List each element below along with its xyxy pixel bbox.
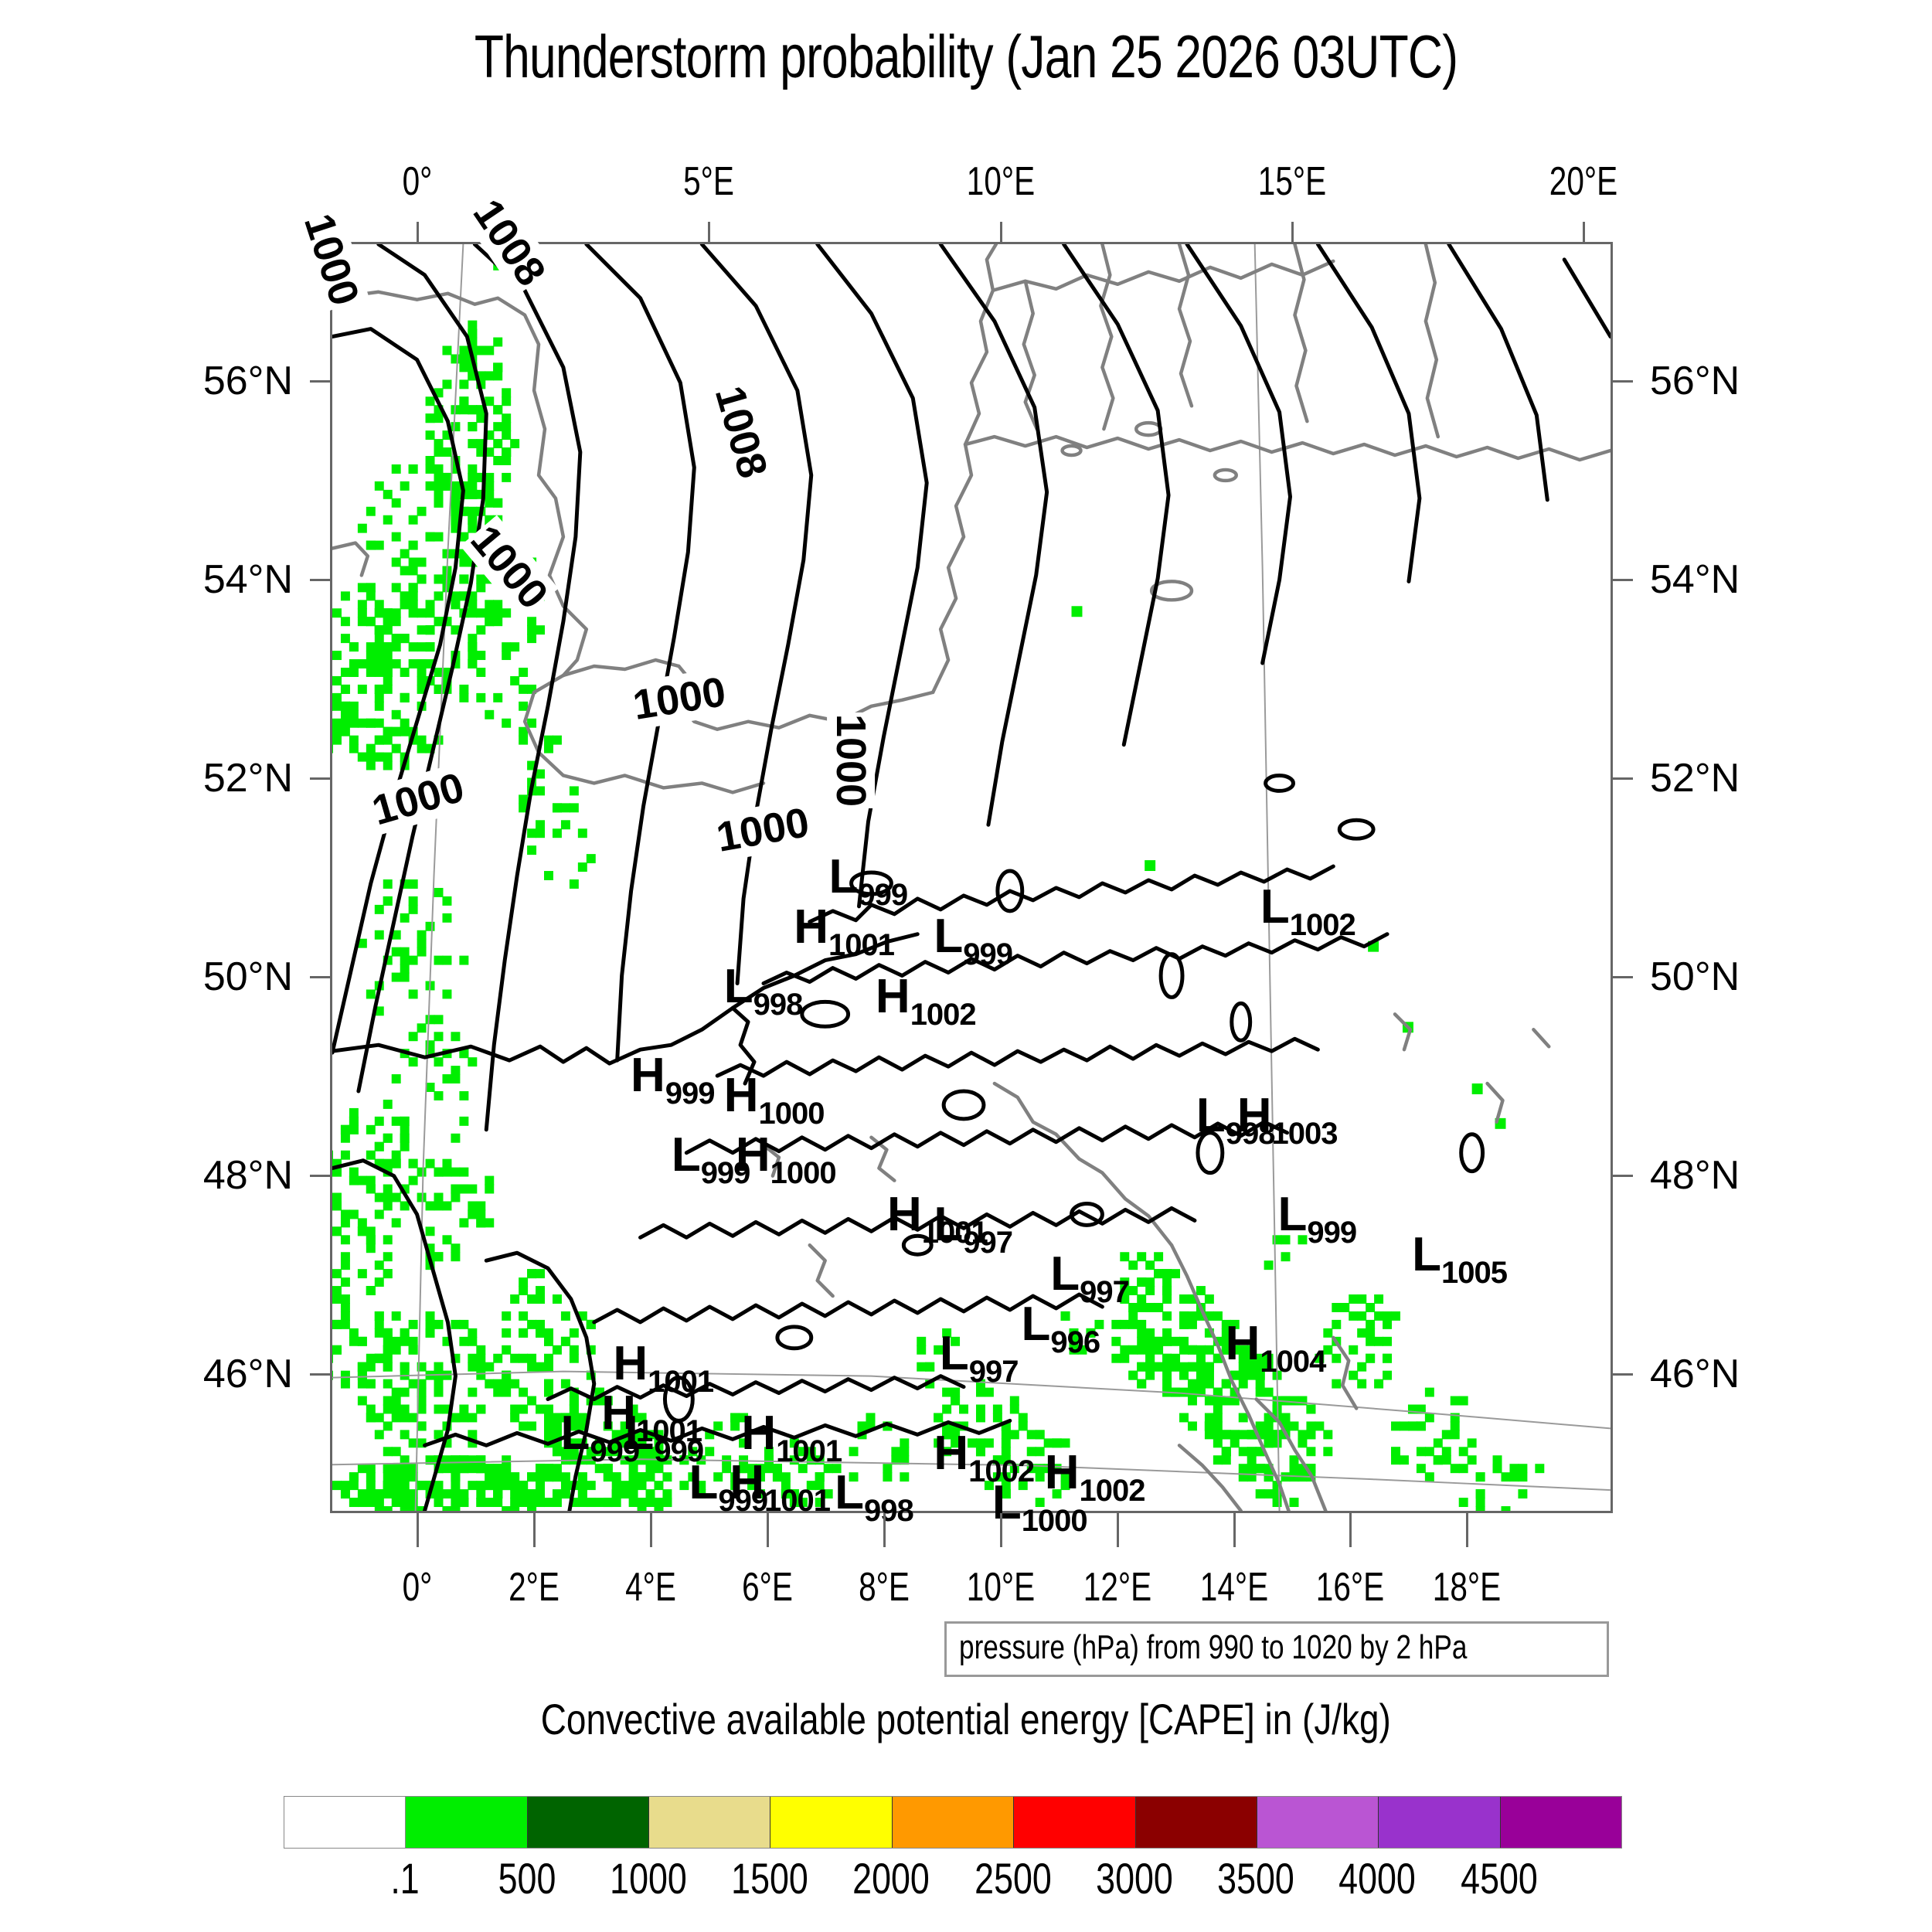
pressure-center-value: 1004 (1260, 1345, 1325, 1379)
pressure-center-l-998: L998 (724, 963, 803, 1011)
pressure-center-l-999: L999 (829, 853, 908, 901)
pressure-center-l-999: L999 (1278, 1191, 1357, 1239)
pressure-center-h-1002: H1002 (934, 1430, 1034, 1478)
tick-right-4 (1613, 1175, 1633, 1177)
axis-label-bottom-5: 10°E (967, 1564, 1035, 1611)
pressure-center-h-1000: H1000 (736, 1131, 836, 1179)
pressure-center-value: 997 (969, 1355, 1019, 1389)
pressure-center-letter: L (1050, 1247, 1080, 1301)
pressure-center-letter: L (940, 1327, 969, 1380)
pressure-center-value: 1003 (1272, 1117, 1338, 1151)
pressure-center-l-998: L998 (835, 1469, 913, 1517)
tick-bottom-7 (1233, 1513, 1236, 1547)
pressure-center-letter: L (835, 1466, 864, 1519)
axis-label-bottom-7: 14°E (1199, 1564, 1267, 1611)
pressure-center-value: 996 (1050, 1325, 1100, 1359)
axis-label-right-1: 54°N (1650, 556, 1740, 603)
tick-top-1 (708, 222, 710, 242)
page-title: Thunderstorm probability (Jan 25 2026 03… (193, 22, 1739, 92)
pressure-center-l-1002: L1002 (1260, 883, 1355, 931)
tick-bottom-9 (1466, 1513, 1468, 1547)
axis-label-top-3: 15°E (1258, 158, 1326, 205)
tick-top-4 (1583, 222, 1585, 242)
tick-top-3 (1291, 222, 1294, 242)
axis-label-left-0: 56°N (203, 358, 293, 404)
map-canvas (332, 244, 1611, 1511)
pressure-center-value: 999 (963, 937, 1012, 971)
pressure-center-letter: L (672, 1128, 701, 1182)
pressure-center-letter: H (934, 1427, 968, 1480)
pressure-center-l-1000: L1000 (992, 1479, 1087, 1527)
pressure-center-h-1001: H1001 (730, 1459, 830, 1507)
axis-label-bottom-6: 12°E (1083, 1564, 1151, 1611)
axis-label-left-5: 46°N (203, 1351, 293, 1397)
tick-bottom-4 (883, 1513, 886, 1547)
colorbar-tick-2: 1000 (610, 1853, 687, 1903)
tick-left-0 (310, 380, 330, 383)
axis-label-bottom-8: 16°E (1316, 1564, 1384, 1611)
axis-label-top-4: 20°E (1549, 158, 1617, 205)
pressure-center-value: 1002 (910, 998, 976, 1032)
pressure-center-l-997: L997 (1050, 1250, 1129, 1298)
colorbar-tick-3: 1500 (731, 1853, 808, 1903)
pressure-center-letter: L (1196, 1089, 1226, 1142)
cape-caption-text: Convective available potential energy [C… (541, 1694, 1391, 1744)
pressure-center-letter: L (1260, 880, 1290, 934)
tick-right-3 (1613, 976, 1633, 978)
pressure-center-letter: L (1412, 1228, 1441, 1281)
cape-colorbar[interactable] (284, 1796, 1622, 1849)
axis-label-bottom-2: 4°E (625, 1564, 676, 1611)
pressure-center-l-996: L996 (1022, 1301, 1100, 1349)
tick-left-3 (310, 976, 330, 978)
colorbar-segment-10[interactable] (1501, 1797, 1621, 1848)
colorbar-segment-9[interactable] (1379, 1797, 1500, 1848)
colorbar-segment-6[interactable] (1014, 1797, 1135, 1848)
tick-bottom-5 (1000, 1513, 1002, 1547)
tick-right-0 (1613, 380, 1633, 383)
pressure-center-h-1001: H1001 (887, 1191, 988, 1239)
axis-label-top-1: 5°E (684, 158, 735, 205)
axis-label-left-1: 54°N (203, 556, 293, 603)
map-container[interactable]: 1000 1008 1008 1000 1000 1000 1000 1000 … (330, 242, 1613, 1513)
pressure-center-h-1003: H1003 (1237, 1092, 1338, 1140)
tick-left-4 (310, 1175, 330, 1177)
pressure-center-value: 999 (665, 1077, 715, 1111)
tick-right-2 (1613, 777, 1633, 780)
pressure-center-letter: L (689, 1456, 718, 1509)
axis-label-right-3: 50°N (1650, 954, 1740, 1000)
tick-top-2 (1000, 222, 1002, 242)
tick-right-5 (1613, 1373, 1633, 1376)
tick-right-1 (1613, 579, 1633, 581)
colorbar-tick-4: 2000 (853, 1853, 930, 1903)
pressure-center-h-999: H999 (631, 1052, 715, 1100)
axis-label-right-0: 56°N (1650, 358, 1740, 404)
pressure-center-h-1001: H1001 (741, 1410, 842, 1458)
pressure-center-letter: H (887, 1188, 922, 1241)
pressure-center-value: 998 (753, 988, 803, 1022)
cape-caption: Convective available potential energy [C… (0, 1694, 1932, 1744)
pressure-center-letter: H (876, 970, 910, 1023)
pressure-center-letter: L (829, 850, 859, 903)
cape-colorbar-labels: .150010001500200025003000350040004500 (284, 1853, 1621, 1907)
colorbar-tick-0: .1 (391, 1853, 420, 1903)
tick-bottom-6 (1117, 1513, 1119, 1547)
pressure-center-l-999: L999 (624, 1410, 703, 1458)
axis-label-bottom-1: 2°E (509, 1564, 560, 1611)
isobar-label-1000-se: 1000 (827, 713, 875, 808)
pressure-center-value: 998 (864, 1494, 913, 1528)
axis-label-bottom-3: 6°E (742, 1564, 793, 1611)
tick-left-2 (310, 777, 330, 780)
pressure-center-value: 1000 (770, 1156, 836, 1190)
pressure-center-letter: L (1022, 1298, 1051, 1351)
colorbar-segment-7[interactable] (1136, 1797, 1257, 1848)
pressure-center-letter: L (560, 1406, 590, 1460)
pressure-center-value: 1001 (922, 1216, 988, 1250)
map-frame (330, 242, 1613, 1513)
colorbar-segment-5[interactable] (893, 1797, 1014, 1848)
pressure-center-h-1001: H1001 (794, 903, 894, 951)
pressure-center-value: 1002 (1290, 908, 1355, 942)
pressure-center-letter: H (1237, 1089, 1272, 1142)
axis-label-left-3: 50°N (203, 954, 293, 1000)
colorbar-segment-2[interactable] (528, 1797, 649, 1848)
axis-label-bottom-0: 0° (403, 1564, 433, 1611)
pressure-center-h-1000: H1000 (724, 1072, 825, 1120)
colorbar-tick-8: 4000 (1339, 1853, 1417, 1903)
colorbar-segment-0[interactable] (284, 1797, 406, 1848)
colorbar-tick-9: 4500 (1461, 1853, 1538, 1903)
tick-bottom-1 (533, 1513, 536, 1547)
pressure-center-letter: H (794, 900, 828, 954)
tick-bottom-2 (650, 1513, 652, 1547)
axis-label-left-4: 48°N (203, 1152, 293, 1199)
pressure-center-l-997: L997 (940, 1330, 1019, 1378)
axis-label-right-4: 48°N (1650, 1152, 1740, 1199)
pressure-center-letter: H (741, 1406, 776, 1460)
pressure-center-value: 1000 (759, 1097, 825, 1131)
tick-bottom-0 (417, 1513, 419, 1547)
colorbar-segment-4[interactable] (770, 1797, 892, 1848)
pressure-center-letter: H (724, 1069, 759, 1122)
colorbar-segment-1[interactable] (406, 1797, 527, 1848)
pressure-center-h-1001: H1001 (613, 1340, 713, 1388)
tick-bottom-8 (1349, 1513, 1352, 1547)
pressure-legend: pressure (hPa) from 990 to 1020 by 2 hPa (944, 1621, 1609, 1677)
pressure-center-value: 999 (1307, 1216, 1356, 1250)
pressure-center-value: 1005 (1441, 1256, 1507, 1290)
pressure-center-value: 1002 (1080, 1474, 1145, 1508)
pressure-center-letter: L (724, 960, 753, 1013)
tick-bottom-3 (767, 1513, 769, 1547)
pressure-center-letter: H (730, 1456, 764, 1509)
tick-top-0 (417, 222, 419, 242)
colorbar-tick-7: 3500 (1217, 1853, 1294, 1903)
pressure-legend-text: pressure (hPa) from 990 to 1020 by 2 hPa (959, 1628, 1467, 1667)
axis-label-right-5: 46°N (1650, 1351, 1740, 1397)
colorbar-tick-5: 2500 (975, 1853, 1052, 1903)
coastline-layer (332, 244, 1611, 1511)
pressure-center-h-1002: H1002 (876, 973, 976, 1021)
axis-label-top-0: 0° (403, 158, 433, 205)
pressure-center-value: 1001 (828, 928, 894, 962)
pressure-center-letter: L (624, 1406, 654, 1460)
axis-label-bottom-9: 18°E (1433, 1564, 1501, 1611)
pressure-center-letter: L (1278, 1188, 1308, 1241)
pressure-center-letter: H (631, 1049, 665, 1102)
pressure-center-value: 1001 (764, 1484, 830, 1518)
pressure-center-letter: H (736, 1128, 770, 1182)
axis-label-left-2: 52°N (203, 755, 293, 801)
pressure-center-letter: L (992, 1476, 1022, 1529)
pressure-center-letter: L (934, 910, 963, 963)
pressure-center-l-1005: L1005 (1412, 1231, 1507, 1279)
pressure-center-h-1004: H1004 (1226, 1320, 1326, 1368)
pressure-center-value: 1000 (1022, 1504, 1087, 1538)
axis-label-top-2: 10°E (967, 158, 1035, 205)
colorbar-tick-1: 500 (498, 1853, 556, 1903)
tick-left-5 (310, 1373, 330, 1376)
colorbar-segment-8[interactable] (1257, 1797, 1379, 1848)
tick-left-1 (310, 579, 330, 581)
axis-label-bottom-4: 8°E (859, 1564, 910, 1611)
colorbar-segment-3[interactable] (649, 1797, 770, 1848)
colorbar-tick-6: 3000 (1096, 1853, 1173, 1903)
pressure-center-l-999: L999 (934, 913, 1012, 961)
axis-label-right-2: 52°N (1650, 755, 1740, 801)
pressure-center-letter: H (1226, 1317, 1260, 1370)
pressure-center-letter: H (613, 1337, 648, 1390)
